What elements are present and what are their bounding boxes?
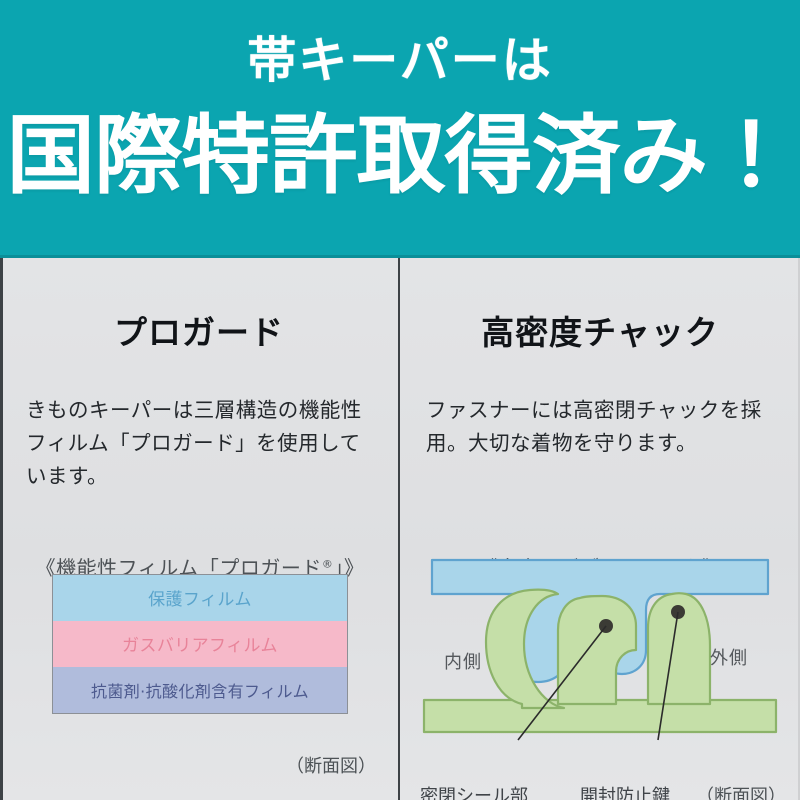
panel-title-pro-guard: プロガード [0,306,398,354]
panel-body-zipper: ファスナーには高密閉チャックを採用。大切な着物を守ります。 [426,394,774,460]
label-outer-side: 外側 [710,644,748,670]
header-banner: 帯キーパーは 国際特許取得済み！ [0,0,800,258]
header-subtitle: 帯キーパーは [247,36,553,85]
feature-panels: プロガード きものキーパーは三層構造の機能性フィルム「プロガード」を使用していま… [0,258,800,800]
cross-section-note-right: （断面図） [696,782,786,800]
panel-body-pro-guard: きものキーパーは三層構造の機能性フィルム「プロガード」を使用しています。 [26,394,372,494]
left-border-line [0,258,3,800]
panel-high-density-zipper: 高密度チャック ファスナーには高密閉チャックを採用。大切な着物を守ります。 《高… [400,258,800,800]
zipper-cross-section-diagram: 内側 外側 [410,554,790,744]
panel-pro-guard: プロガード きものキーパーは三層構造の機能性フィルム「プロガード」を使用していま… [0,258,400,800]
page-root: 帯キーパーは 国際特許取得済み！ プロガード きものキーパーは三層構造の機能性フ… [0,0,800,800]
label-inner-side: 内側 [444,648,482,674]
legend-tamper-lock: 開封防止鍵 [580,782,670,800]
layer-protective-film: 保護フィルム [53,575,347,621]
legend-seal-part: 密閉シール部 [420,782,528,800]
registered-trademark-icon: ® [322,557,334,570]
cross-section-note-left: （断面図） [286,752,376,778]
layer-gas-barrier-film: ガスバリアフィルム [53,621,347,667]
layer-antibacterial-film: 抗菌剤·抗酸化剤含有フィルム [53,667,347,713]
header-title: 国際特許取得済み！ [6,111,794,201]
layer-stack-diagram: 保護フィルム ガスバリアフィルム 抗菌剤·抗酸化剤含有フィルム [52,574,348,714]
zipper-lower-center-prong [558,596,636,704]
panel-title-zipper: 高密度チャック [400,306,800,354]
